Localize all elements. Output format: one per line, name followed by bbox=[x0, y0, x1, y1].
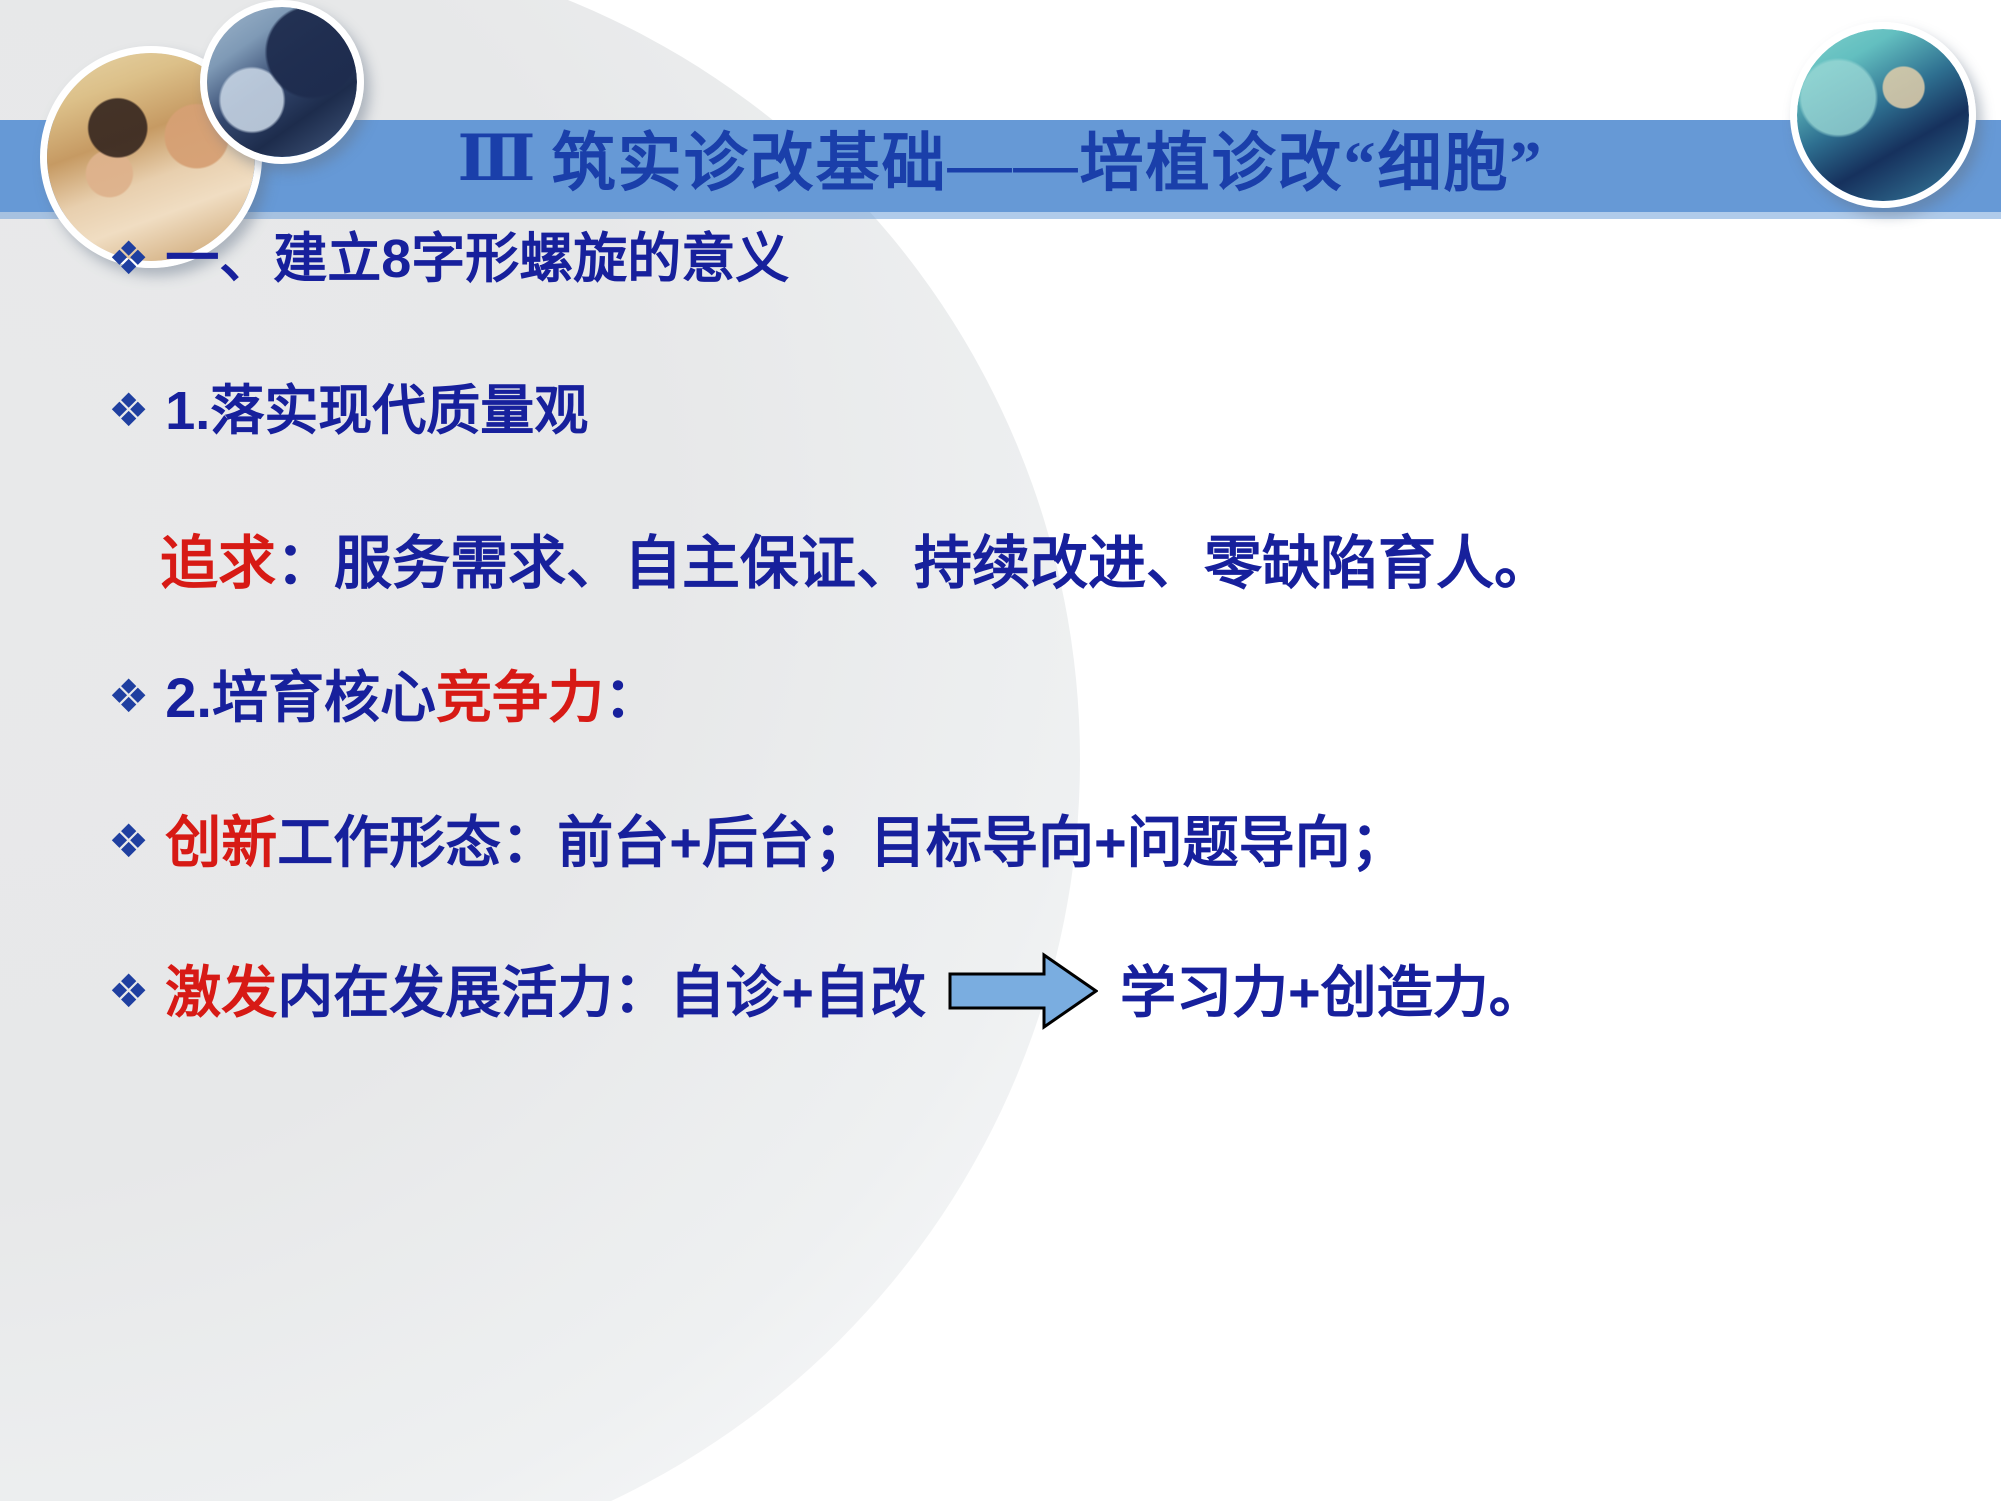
pursuit-line: 追求 ：服务需求、自主保证、持续改进、零缺陷育人。 bbox=[160, 532, 1552, 596]
list-item-4-result: 学习力+创造力。 bbox=[1120, 962, 1545, 1024]
pursuit-text: ：服务需求、自主保证、持续改进、零缺陷育人。 bbox=[276, 532, 1552, 596]
list-item-3: ❖ 创新 工作形态：前台+后台；目标导向+问题导向； bbox=[108, 812, 1407, 874]
slide: Ⅲ 筑实诊改基础——培植诊改“细胞” ❖ 一、建立8字形螺旋的意义 ❖ 1.落实… bbox=[0, 0, 2001, 1501]
list-item-2: ❖ 2.培育核心 竞争力 ： bbox=[108, 667, 660, 729]
list-item-4-highlight: 激发 bbox=[165, 962, 277, 1024]
handshake-photo bbox=[200, 0, 364, 164]
list-item-3-highlight: 创新 bbox=[165, 812, 277, 874]
list-item-3-text: 工作形态：前台+后台；目标导向+问题导向； bbox=[277, 812, 1406, 874]
handshake-photo-image bbox=[207, 7, 357, 157]
page-title-text: 筑实诊改基础——培植诊改“细胞” bbox=[551, 112, 1543, 204]
body-heading-text: 一、建立8字形螺旋的意义 bbox=[165, 230, 789, 289]
list-item-4-text: 内在发展活力：自诊+自改 bbox=[277, 962, 926, 1024]
list-item-1-text: 1.落实现代质量观 bbox=[165, 382, 588, 441]
presenter-photo bbox=[1790, 22, 1976, 208]
section-numeral: Ⅲ bbox=[458, 121, 538, 196]
diamond-bullet-icon: ❖ bbox=[108, 818, 149, 864]
diamond-bullet-icon: ❖ bbox=[108, 235, 149, 281]
right-arrow-icon bbox=[948, 952, 1098, 1030]
list-item-4: ❖ 激发 内在发展活力：自诊+自改 学习力+创造力。 bbox=[108, 954, 1545, 1032]
list-item-1: ❖ 1.落实现代质量观 bbox=[108, 382, 588, 441]
list-item-2-highlight: 竞争力 bbox=[436, 667, 604, 729]
presenter-photo-image bbox=[1797, 29, 1969, 201]
slide-body: ❖ 一、建立8字形螺旋的意义 ❖ 1.落实现代质量观 追求 ：服务需求、自主保证… bbox=[0, 212, 2001, 1501]
list-item-2-suffix: ： bbox=[604, 667, 660, 729]
diamond-bullet-icon: ❖ bbox=[108, 673, 149, 719]
list-item-2-prefix: 2.培育核心 bbox=[165, 667, 436, 729]
diamond-bullet-icon: ❖ bbox=[108, 968, 149, 1014]
body-heading: ❖ 一、建立8字形螺旋的意义 bbox=[108, 230, 789, 289]
diamond-bullet-icon: ❖ bbox=[108, 387, 149, 433]
pursuit-label: 追求 bbox=[160, 532, 276, 596]
